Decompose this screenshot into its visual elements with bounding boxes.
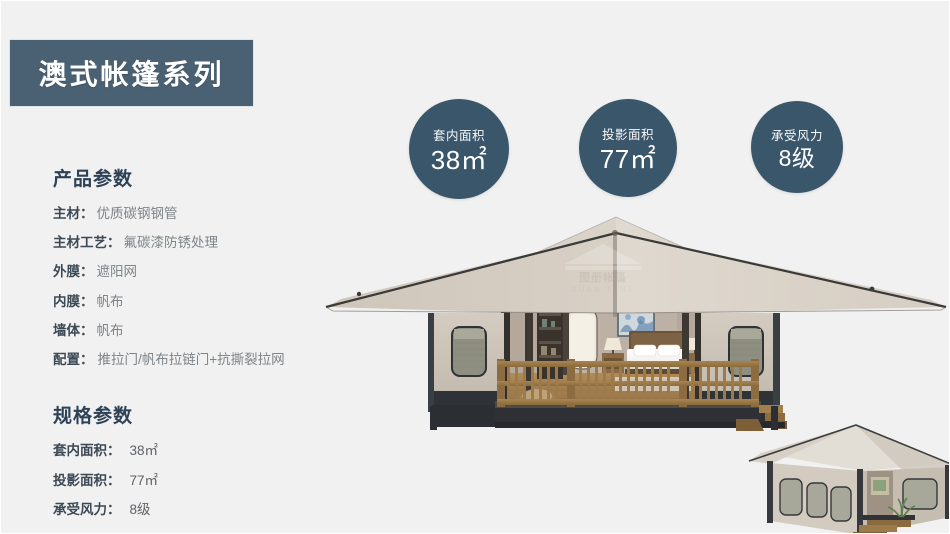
product-param-row: 外膜： 遮阳网	[53, 263, 373, 281]
spec-panel: 产品参数 主材： 优质碳钢钢管 主材工艺： 氟碳漆防锈处理 外膜： 遮阳网 内膜…	[53, 164, 373, 530]
stat-value: 8级	[779, 147, 816, 170]
param-label: 主材：	[53, 205, 94, 223]
stat-caption: 投影面积	[602, 124, 654, 143]
stat-badge-projected-area: 投影面积 77㎡	[579, 99, 677, 197]
product-param-row: 内膜： 帆布	[53, 293, 373, 311]
param-label: 配置：	[53, 351, 94, 369]
slide-canvas: 图册帐篷 XUAN TENT 澳式帐篷系列 产品参数 主材： 优质碳钢钢管 主材…	[0, 0, 950, 534]
param-label: 外膜：	[53, 263, 94, 281]
param-value: 优质碳钢钢管	[97, 205, 178, 223]
spec-param-row: 套内面积： 38㎡	[53, 442, 373, 460]
product-param-row: 主材工艺： 氟碳漆防锈处理	[53, 234, 373, 252]
watermark-bar	[565, 266, 641, 270]
spec-label: 承受风力：	[53, 501, 121, 519]
product-param-row: 配置： 推拉门/帆布拉链门+抗撕裂拉网	[53, 351, 373, 369]
watermark-subtext: XUAN TENT	[557, 285, 649, 294]
stat-caption: 套内面积	[433, 125, 485, 144]
param-label: 内膜：	[53, 293, 94, 311]
stat-caption: 承受风力	[771, 125, 823, 144]
param-label: 主材工艺：	[53, 234, 121, 252]
param-value: 氟碳漆防锈处理	[124, 234, 219, 252]
stat-value: 38㎡	[431, 147, 487, 173]
product-param-row: 主材： 优质碳钢钢管	[53, 205, 373, 223]
title-banner: 澳式帐篷系列	[9, 39, 254, 107]
stat-badge-interior-area: 套内面积 38㎡	[409, 99, 509, 199]
spec-label: 套内面积：	[53, 442, 121, 460]
page-title: 澳式帐篷系列	[38, 53, 224, 93]
param-value: 推拉门/帆布拉链门+抗撕裂拉网	[98, 351, 285, 369]
spec-value: 77㎡	[130, 472, 159, 490]
spec-label: 投影面积：	[53, 472, 121, 490]
param-value: 帆布	[97, 293, 124, 311]
product-param-row: 墙体： 帆布	[53, 322, 373, 340]
param-value: 遮阳网	[97, 263, 138, 281]
spec-value: 38㎡	[130, 442, 159, 460]
spec-value: 8级	[130, 501, 151, 519]
spec-param-row: 投影面积： 77㎡	[53, 472, 373, 490]
watermark-roof-icon	[565, 244, 641, 264]
watermark-text: 图册帐篷	[557, 272, 649, 284]
stat-badge-wind-resistance: 承受风力 8级	[751, 101, 843, 193]
stat-value: 77㎡	[600, 146, 656, 172]
param-value: 帆布	[97, 322, 124, 340]
spec-params-heading: 规格参数	[53, 401, 373, 428]
tent-illustration-thumbnail	[736, 419, 950, 534]
watermark: 图册帐篷 XUAN TENT	[557, 244, 649, 300]
product-params-heading: 产品参数	[53, 164, 373, 191]
param-label: 墙体：	[53, 322, 94, 340]
spec-param-row: 承受风力： 8级	[53, 501, 373, 519]
